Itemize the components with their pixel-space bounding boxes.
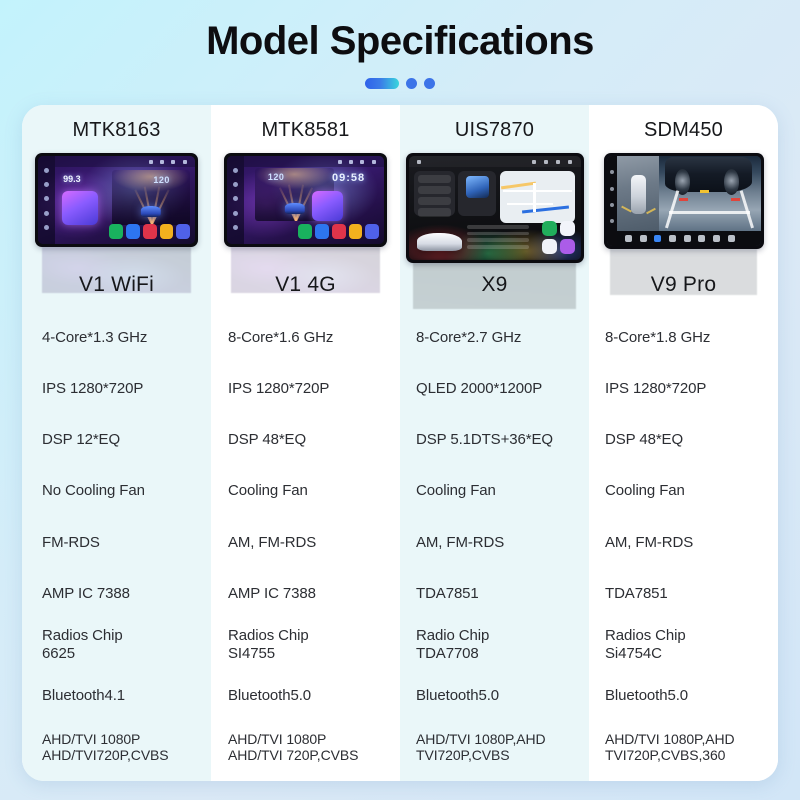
pagination-dot-3[interactable] — [424, 78, 435, 89]
spec-display-4: IPS 1280*720P — [589, 363, 778, 414]
head-unit-mockup-3 — [406, 153, 584, 263]
device-image-3 — [400, 153, 589, 263]
carousel-pagination[interactable] — [0, 76, 800, 90]
spec-dsp-3: DSP 5.1DTS+36*EQ — [400, 414, 589, 465]
spec-cpu-4: 8-Core*1.8 GHz — [589, 312, 778, 363]
head-unit-screen-4 — [607, 156, 761, 246]
page-title: Model Specifications — [0, 18, 800, 64]
spec-column-mtk8163[interactable]: MTK8163 99.3 — [22, 105, 211, 781]
head-unit-screen-3 — [409, 156, 581, 260]
car-graphic-2 — [284, 203, 304, 214]
spec-amplifier-4: TDA7851 — [589, 568, 778, 619]
birdseye-camera-view-4 — [617, 156, 659, 231]
specifications-card: MTK8163 99.3 — [22, 105, 778, 781]
side-rail-icons-2 — [227, 156, 244, 244]
widget-music-3 — [458, 171, 496, 217]
spec-column-sdm450[interactable]: SDM450 — [589, 105, 778, 781]
spec-cooling-3: Cooling Fan — [400, 466, 589, 517]
model-name-4: V9 Pro — [589, 273, 778, 297]
spec-camera-input-1: AHD/TVI 1080P AHD/TVI720P,CVBS — [22, 722, 211, 773]
app-dock-3 — [542, 221, 575, 254]
spec-bluetooth-1: Bluetooth4.1 — [22, 671, 211, 722]
spec-radio-band-3: AM, FM-RDS — [400, 517, 589, 568]
spec-camera-input-3: AHD/TVI 1080P,AHD TVI720P,CVBS — [400, 722, 589, 773]
radio-frequency-1: 99.3 — [63, 174, 81, 184]
spec-cpu-3: 8-Core*2.7 GHz — [400, 312, 589, 363]
model-name-3: X9 — [400, 273, 589, 297]
spec-bluetooth-4: Bluetooth5.0 — [589, 671, 778, 722]
device-image-1: 99.3 120 — [22, 153, 211, 247]
chipset-name-3: UIS7870 — [400, 105, 589, 142]
column-head-mtk8581: MTK8581 — [211, 105, 400, 300]
spec-display-3: QLED 2000*1200P — [400, 363, 589, 414]
pagination-active-pill[interactable] — [365, 78, 399, 89]
album-art-2 — [312, 191, 343, 221]
spec-display-1: IPS 1280*720P — [22, 363, 211, 414]
head-unit-screen-2: 120 09:58 — [227, 156, 384, 244]
status-bar-3 — [409, 156, 581, 167]
head-unit-mockup-4 — [604, 153, 764, 249]
spec-list-2: 8-Core*1.6 GHz IPS 1280*720P DSP 48*EQ C… — [211, 300, 400, 781]
spec-radio-band-4: AM, FM-RDS — [589, 517, 778, 568]
spec-cpu-1: 4-Core*1.3 GHz — [22, 312, 211, 363]
spec-column-uis7870[interactable]: UIS7870 — [400, 105, 589, 781]
spec-bluetooth-2: Bluetooth5.0 — [211, 671, 400, 722]
spec-dsp-4: DSP 48*EQ — [589, 414, 778, 465]
spec-radio-band-2: AM, FM-RDS — [211, 517, 400, 568]
spec-dsp-1: DSP 12*EQ — [22, 414, 211, 465]
chipset-name-2: MTK8581 — [211, 105, 400, 142]
spec-dsp-2: DSP 48*EQ — [211, 414, 400, 465]
car-graphic-3 — [417, 233, 462, 251]
widget-shortcuts-3 — [414, 171, 455, 217]
column-head-sdm450: SDM450 — [589, 105, 778, 300]
status-bar-2 — [244, 156, 384, 167]
vehicle-stats-3 — [467, 225, 529, 248]
head-unit-screen-1: 99.3 120 — [38, 156, 195, 244]
model-name-2: V1 4G — [211, 273, 400, 297]
side-rail-icons-4 — [607, 156, 618, 246]
spec-list-3: 8-Core*2.7 GHz QLED 2000*1200P DSP 5.1DT… — [400, 300, 589, 781]
spec-cooling-2: Cooling Fan — [211, 466, 400, 517]
page-header: Model Specifications — [0, 0, 800, 90]
speed-readout-2: 120 — [268, 172, 285, 182]
ego-car-icon-4 — [631, 175, 646, 214]
album-art-1 — [62, 191, 98, 224]
spec-camera-input-4: AHD/TVI 1080P,AHD TVI720P,CVBS,360 — [589, 722, 778, 773]
spec-cpu-2: 8-Core*1.6 GHz — [211, 312, 400, 363]
pagination-dot-2[interactable] — [406, 78, 417, 89]
spec-radio-chip-4: Radios Chip Si4754C — [589, 619, 778, 670]
side-rail-icons-1 — [38, 156, 55, 244]
spec-list-4: 8-Core*1.8 GHz IPS 1280*720P DSP 48*EQ C… — [589, 300, 778, 781]
spec-radio-chip-1: Radios Chip 6625 — [22, 619, 211, 670]
road-animation-1 — [112, 170, 191, 225]
spec-amplifier-3: TDA7851 — [400, 568, 589, 619]
head-unit-mockup-1: 99.3 120 — [35, 153, 198, 247]
chipset-name-4: SDM450 — [589, 105, 778, 142]
speed-readout-1: 120 — [153, 175, 170, 185]
clock-readout-2: 09:58 — [332, 172, 365, 184]
status-bar-1 — [55, 156, 195, 167]
device-image-4 — [589, 153, 778, 249]
model-name-1: V1 WiFi — [22, 273, 211, 297]
spec-cooling-1: No Cooling Fan — [22, 466, 211, 517]
spec-cooling-4: Cooling Fan — [589, 466, 778, 517]
spec-amplifier-1: AMP IC 7388 — [22, 568, 211, 619]
device-image-2: 120 09:58 — [211, 153, 400, 247]
spec-radio-band-1: FM-RDS — [22, 517, 211, 568]
car-graphic-1 — [141, 206, 161, 217]
spec-radio-chip-3: Radio Chip TDA7708 — [400, 619, 589, 670]
head-unit-mockup-2: 120 09:58 — [224, 153, 387, 247]
spec-amplifier-2: AMP IC 7388 — [211, 568, 400, 619]
spec-column-mtk8581[interactable]: MTK8581 — [211, 105, 400, 781]
column-head-uis7870: UIS7870 — [400, 105, 589, 300]
chipset-name-1: MTK8163 — [22, 105, 211, 142]
column-head-mtk8163: MTK8163 99.3 — [22, 105, 211, 300]
spec-display-2: IPS 1280*720P — [211, 363, 400, 414]
spec-radio-chip-2: Radios Chip SI4755 — [211, 619, 400, 670]
rear-camera-view-4 — [659, 156, 761, 231]
app-dock-2 — [298, 222, 380, 241]
app-dock-1 — [109, 222, 191, 241]
spec-list-1: 4-Core*1.3 GHz IPS 1280*720P DSP 12*EQ N… — [22, 300, 211, 781]
spec-camera-input-2: AHD/TVI 1080P AHD/TVI 720P,CVBS — [211, 722, 400, 773]
camera-mode-dock-4[interactable] — [617, 231, 760, 246]
widget-map-3 — [500, 171, 576, 223]
spec-bluetooth-3: Bluetooth5.0 — [400, 671, 589, 722]
